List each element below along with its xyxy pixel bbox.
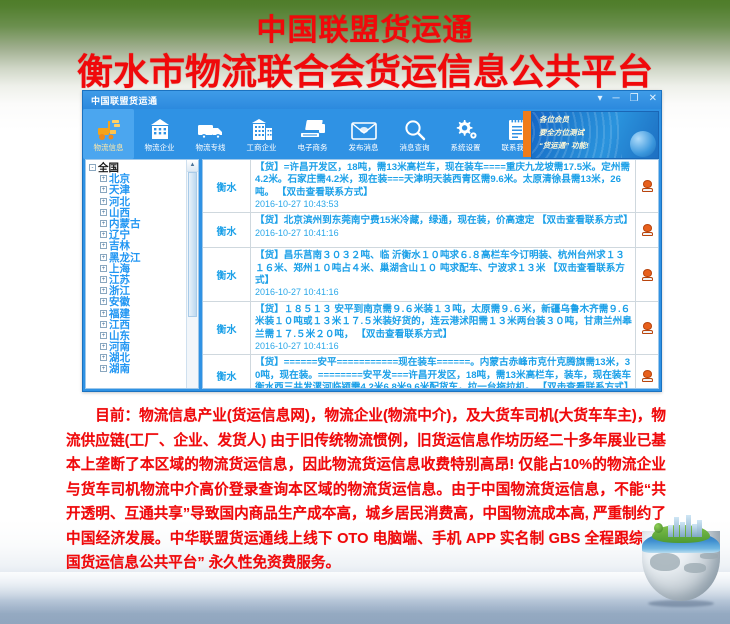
toolbar-item-message-query[interactable]: 消息查询 [389,109,440,159]
tree-node-11[interactable]: +安徽 [89,296,198,307]
earth-globe-illustration [638,515,724,607]
toolbar-label: 物流信息 [94,142,124,153]
qq-contact-icon[interactable] [642,224,653,236]
row-timestamp: 2016-10-27 10:41:16 [255,228,632,240]
toolbar-label: 发布消息 [349,142,379,153]
building-icon [148,115,172,141]
tree-expander-icon[interactable]: + [100,220,107,227]
window-title: 中国联盟货运通 [91,94,158,107]
tree-node-4[interactable]: +内蒙古 [89,218,198,229]
table-row[interactable]: 衡水【货】======安平===========现在装车======。内蒙古赤峰… [203,355,658,389]
maximize-icon[interactable]: ❐ [630,92,639,106]
row-action-cell[interactable] [635,355,658,389]
row-city: 衡水 [203,302,251,354]
tree-node-3[interactable]: +山西 [89,207,198,218]
tree-node-label: 湖南 [109,361,130,376]
envelope-icon [351,115,377,141]
tree-node-15[interactable]: +河南 [89,341,198,352]
tree-node-17[interactable]: +湖南 [89,363,198,374]
tree-node-7[interactable]: +黑龙江 [89,252,198,263]
tree-expander-icon[interactable]: + [100,242,107,249]
freight-message-list[interactable]: 衡水【货】=许昌开发区，18吨，需13米高栏车，现在装车====重庆九龙坡需17… [202,159,659,389]
promotional-paragraph: 目前：物流信息产业(货运信息网)，物流企业(物流中介)，及大货车司机(大货车车主… [66,404,666,576]
globe-tree [654,523,663,533]
row-timestamp: 2016-10-27 10:41:16 [255,287,632,299]
tree-node-6[interactable]: +吉林 [89,240,198,251]
tree-node-2[interactable]: +河北 [89,196,198,207]
computer-icon [299,115,327,141]
tree-expander-icon[interactable]: + [100,343,107,350]
tree-node-8[interactable]: +上海 [89,263,198,274]
tree-expander-icon[interactable]: + [100,354,107,361]
headline-line-1: 中国联盟货运通 [0,14,730,48]
tree-expander-icon[interactable]: + [100,209,107,216]
tree-node-0[interactable]: +北京 [89,173,198,184]
app-window: 中国联盟货运通 ▾ ─ ❐ ✕ 物流信息 物流企业 物流专线 [82,90,662,392]
forklift-icon [96,115,122,141]
row-timestamp: 2016-10-27 10:41:16 [255,341,632,353]
close-icon[interactable]: ✕ [649,92,657,106]
row-message-cell[interactable]: 【货】昌乐莒南３０３２吨、临 沂衡水１０吨求６.８高栏车今订明装、杭州台州求１３… [251,248,635,300]
window-titlebar: 中国联盟货运通 ▾ ─ ❐ ✕ [83,91,661,109]
tree-expander-icon[interactable]: - [89,164,96,171]
tree-expander-icon[interactable]: + [100,231,107,238]
region-tree-panel: -全国+北京+天津+河北+山西+内蒙古+辽宁+吉林+黑龙江+上海+江苏+浙江+安… [85,159,199,389]
toolbar-item-ecommerce[interactable]: 电子商务 [287,109,338,159]
row-message-text: 【货】======安平===========现在装车======。内蒙古赤峰市克… [255,357,632,389]
row-message-text: 【货】=许昌开发区，18吨，需13米高栏车，现在装车====重庆九龙坡需17.5… [255,162,632,199]
tree-expander-icon[interactable]: + [100,265,107,272]
tree-expander-icon[interactable]: + [100,254,107,261]
tree-expander-icon[interactable]: + [100,310,107,317]
qq-contact-icon[interactable] [642,322,653,334]
toolbar-label: 系统设置 [451,142,481,153]
qq-contact-icon[interactable] [642,269,653,281]
row-message-text: 【货】昌乐莒南３０３２吨、临 沂衡水１０吨求６.８高栏车今订明装、杭州台州求１３… [255,250,632,287]
toolbar-accent-bar [523,111,531,157]
tree-node-16[interactable]: +湖北 [89,352,198,363]
table-row[interactable]: 衡水【货】=许昌开发区，18吨，需13米高栏车，现在装车====重庆九龙坡需17… [203,160,658,213]
region-tree: -全国+北京+天津+河北+山西+内蒙古+辽宁+吉林+黑龙江+上海+江苏+浙江+安… [86,160,198,375]
scroll-up-arrow-icon[interactable]: ▲ [187,160,198,172]
toolbar-label: 工商企业 [247,142,277,153]
tree-node-10[interactable]: +浙江 [89,285,198,296]
tree-scrollbar[interactable]: ▲ [186,160,198,388]
promo-banner-line-1: 各位会员 [539,115,658,125]
table-row[interactable]: 衡水【货】昌乐莒南３０３２吨、临 沂衡水１０吨求６.８高栏车今订明装、杭州台州求… [203,248,658,301]
row-action-cell[interactable] [635,213,658,247]
minimize-icon[interactable]: ─ [613,92,620,106]
toolbar-item-system-settings[interactable]: 系统设置 [440,109,491,159]
globe-city-skyline [668,515,702,537]
row-city: 衡水 [203,248,251,300]
toolbar-item-logistics-info[interactable]: 物流信息 [83,109,134,159]
toolbar-label: 消息查询 [400,142,430,153]
row-message-cell[interactable]: 【货】=许昌开发区，18吨，需13米高栏车，现在装车====重庆九龙坡需17.5… [251,160,635,212]
globe-shadow [648,600,714,607]
row-city: 衡水 [203,213,251,247]
row-action-cell[interactable] [635,302,658,354]
scrollbar-thumb[interactable] [188,172,197,317]
tree-expander-icon[interactable]: + [100,298,107,305]
row-message-cell[interactable]: 【货】１８５１３ 安平到南京需９.６米装１３吨，太原需９.６米，新疆乌鲁木齐需９… [251,302,635,354]
tree-node-12[interactable]: +福建 [89,307,198,318]
window-controls: ▾ ─ ❐ ✕ [598,92,657,106]
tree-expander-icon[interactable]: + [100,365,107,372]
qq-contact-icon[interactable] [642,180,653,192]
toolbar-label: 物流企业 [145,142,175,153]
row-message-cell[interactable]: 【货】北京滨州到东莞南宁费15米冷藏，绿通，现在装，价高速定 【双击查看联系方式… [251,213,635,247]
window-body: -全国+北京+天津+河北+山西+内蒙古+辽宁+吉林+黑龙江+上海+江苏+浙江+安… [83,159,661,391]
main-toolbar: 物流信息 物流企业 物流专线 工商企业 电子商务 [83,109,661,159]
row-action-cell[interactable] [635,160,658,212]
tree-node-1[interactable]: +天津 [89,184,198,195]
tree-expander-icon[interactable]: + [100,332,107,339]
tree-expander-icon[interactable]: + [100,276,107,283]
page-title: 中国联盟货运通 衡水市物流联合会货运信息公共平台 [0,14,730,92]
gear-icon [454,115,478,141]
toolbar-label: 电子商务 [298,142,328,153]
tree-expander-icon[interactable]: + [100,175,107,182]
office-building-icon [250,115,274,141]
row-message-cell[interactable]: 【货】======安平===========现在装车======。内蒙古赤峰市克… [251,355,635,389]
tree-node-14[interactable]: +山东 [89,330,198,341]
magnifier-icon [403,115,427,141]
table-row[interactable]: 衡水【货】北京滨州到东莞南宁费15米冷藏，绿通，现在装，价高速定 【双击查看联系… [203,213,658,248]
tree-node-root[interactable]: -全国 [89,162,198,173]
tree-node-9[interactable]: +江苏 [89,274,198,285]
tree-expander-icon[interactable]: + [100,321,107,328]
chevron-down-icon[interactable]: ▾ [598,92,603,106]
table-row[interactable]: 衡水【货】１８５１３ 安平到南京需９.６米装１３吨，太原需９.６米，新疆乌鲁木齐… [203,302,658,355]
row-city: 衡水 [203,160,251,212]
truck-icon [197,115,225,141]
headline-line-2: 衡水市物流联合会货运信息公共平台 [0,52,730,92]
toolbar-item-logistics-company[interactable]: 物流企业 [134,109,185,159]
tree-node-13[interactable]: +江西 [89,319,198,330]
toolbar-label: 物流专线 [196,142,226,153]
qq-contact-icon[interactable] [642,370,653,382]
row-timestamp: 2016-10-27 10:43:53 [255,199,632,211]
toolbar-item-business-company[interactable]: 工商企业 [236,109,287,159]
promo-banner[interactable]: 各位会员 要全方位测试 “货运通” 功能! [531,111,659,159]
row-message-text: 【货】北京滨州到东莞南宁费15米冷藏，绿通，现在装，价高速定 【双击查看联系方式… [255,215,632,227]
row-message-text: 【货】１８５１３ 安平到南京需９.６米装１３吨，太原需９.６米，新疆乌鲁木齐需９… [255,304,632,341]
toolbar-item-publish-message[interactable]: 发布消息 [338,109,389,159]
tree-expander-icon[interactable]: + [100,287,107,294]
tree-node-5[interactable]: +辽宁 [89,229,198,240]
tree-expander-icon[interactable]: + [100,198,107,205]
toolbar-item-logistics-line[interactable]: 物流专线 [185,109,236,159]
tree-expander-icon[interactable]: + [100,186,107,193]
row-action-cell[interactable] [635,248,658,300]
banner-globe-icon [630,131,656,157]
row-city: 衡水 [203,355,251,389]
